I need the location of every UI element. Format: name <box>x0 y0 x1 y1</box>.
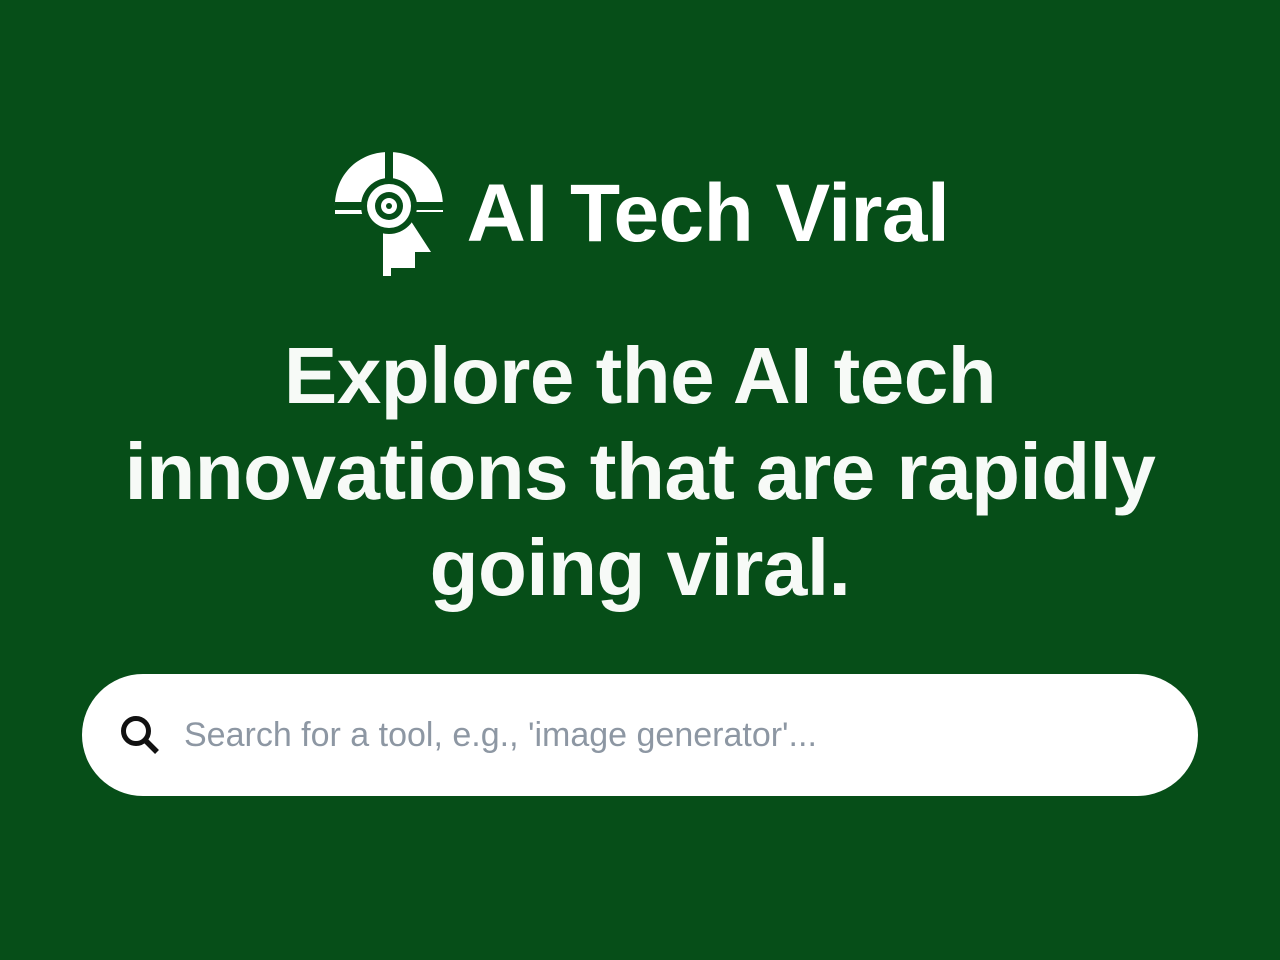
ai-robot-head-icon <box>331 148 447 280</box>
search-input[interactable] <box>184 674 1158 796</box>
page-headline: Explore the AI tech innovations that are… <box>70 328 1210 616</box>
search-bar[interactable] <box>82 674 1198 796</box>
headline-line-1: Explore the AI tech <box>70 328 1210 424</box>
headline-line-3: going viral. <box>70 520 1210 616</box>
hero-section: AI Tech Viral Explore the AI tech innova… <box>0 0 1280 960</box>
headline-line-2: innovations that are rapidly <box>70 424 1210 520</box>
brand-title: AI Tech Viral <box>467 173 950 255</box>
search-icon[interactable] <box>118 713 162 757</box>
brand: AI Tech Viral <box>331 148 950 280</box>
